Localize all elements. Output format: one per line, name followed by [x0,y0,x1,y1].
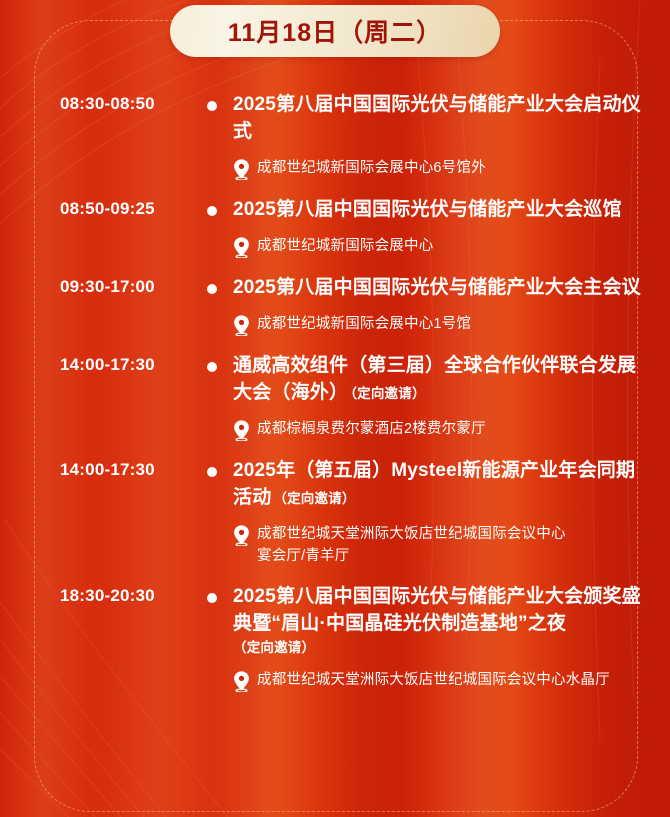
entry-note: （定向邀请） [273,491,355,506]
schedule-entry: 14:00-17:30通威高效组件（第三届）全球合作伙伴联合发展大会（海外）（定… [0,353,670,441]
entry-bullet-column [191,353,233,372]
entry-bullet-column [191,584,233,603]
schedule-entry: 09:30-17:002025第八届中国国际光伏与储能产业大会主会议成都世纪城新… [0,275,670,336]
location-line: 成都世纪城新国际会展中心 [257,236,433,258]
schedule-entry: 18:30-20:302025第八届中国国际光伏与储能产业大会颁奖盛典暨“眉山·… [0,584,670,692]
entry-bullet-column [191,275,233,294]
map-pin-icon [233,525,250,546]
entry-title-block: 2025第八届中国国际光伏与储能产业大会主会议 [233,275,648,302]
entry-detail-column: 通威高效组件（第三届）全球合作伙伴联合发展大会（海外）（定向邀请）成都棕榈泉费尔… [233,353,648,441]
schedule-entry: 08:30-08:502025第八届中国国际光伏与储能产业大会启动仪式成都世纪城… [0,92,670,180]
entry-location-row: 成都棕榈泉费尔蒙酒店2楼费尔蒙厅 [233,419,648,441]
entry-detail-column: 2025第八届中国国际光伏与储能产业大会启动仪式成都世纪城新国际会展中心6号馆外 [233,92,648,180]
map-pin-icon [233,671,250,692]
entry-note: （定向邀请） [350,386,425,401]
schedule-entry: 08:50-09:252025第八届中国国际光伏与储能产业大会巡馆成都世纪城新国… [0,197,670,258]
entry-detail-column: 2025第八届中国国际光伏与储能产业大会主会议成都世纪城新国际会展中心1号馆 [233,275,648,336]
schedule-entry: 14:00-17:302025年（第五届）Mysteel新能源产业年会同期活动（… [0,458,670,567]
entry-time-column: 09:30-17:00 [60,275,191,297]
entry-location-row: 成都世纪城新国际会展中心 [233,236,648,258]
entry-time-column: 14:00-17:30 [60,458,191,480]
bullet-dot-icon [207,467,217,477]
entry-title-block: 2025第八届中国国际光伏与储能产业大会颁奖盛典暨“眉山·中国晶硅光伏制造基地”… [233,584,648,658]
entry-time-column: 08:30-08:50 [60,92,191,114]
entry-bullet-column [191,458,233,477]
map-pin-icon [233,315,250,336]
entry-location: 成都世纪城新国际会展中心6号馆外 [257,158,486,180]
location-line: 成都世纪城天堂洲际大饭店世纪城国际会议中心 [257,524,566,546]
entry-title-block: 2025年（第五届）Mysteel新能源产业年会同期活动（定向邀请） [233,458,648,512]
bullet-dot-icon [207,362,217,372]
entry-title: 2025第八届中国国际光伏与储能产业大会主会议 [233,277,641,298]
agenda-poster: 11月18日（周二） 08:30-08:502025第八届中国国际光伏与储能产业… [0,0,670,817]
entry-detail-column: 2025年（第五届）Mysteel新能源产业年会同期活动（定向邀请）成都世纪城天… [233,458,648,567]
entry-location: 成都世纪城新国际会展中心1号馆 [257,314,471,336]
entry-title-block: 2025第八届中国国际光伏与储能产业大会启动仪式 [233,92,648,146]
entry-title: 2025第八届中国国际光伏与储能产业大会巡馆 [233,199,622,220]
entry-time: 08:50-09:25 [60,199,155,218]
entry-title-block: 通威高效组件（第三届）全球合作伙伴联合发展大会（海外）（定向邀请） [233,353,648,407]
entry-location-row: 成都世纪城天堂洲际大饭店世纪城国际会议中心宴会厅/青羊厅 [233,524,648,568]
entry-time-column: 18:30-20:30 [60,584,191,606]
entry-location: 成都世纪城天堂洲际大饭店世纪城国际会议中心宴会厅/青羊厅 [257,524,566,568]
entry-time-column: 08:50-09:25 [60,197,191,219]
entry-time: 14:00-17:30 [60,460,155,479]
entry-time-column: 14:00-17:30 [60,353,191,375]
map-pin-icon [233,420,250,441]
location-line: 成都世纪城新国际会展中心1号馆 [257,314,471,336]
map-pin-icon [233,237,250,258]
bullet-dot-icon [207,206,217,216]
entry-title: 通威高效组件（第三届）全球合作伙伴联合发展大会（海外） [233,355,636,403]
date-badge: 11月18日（周二） [170,5,500,57]
entry-time: 18:30-20:30 [60,586,155,605]
entry-bullet-column [191,92,233,111]
location-line: 宴会厅/青羊厅 [257,546,566,568]
entry-location-row: 成都世纪城天堂洲际大饭店世纪城国际会议中心水晶厅 [233,670,648,692]
bullet-dot-icon [207,593,217,603]
entry-time: 08:30-08:50 [60,94,155,113]
entry-detail-column: 2025第八届中国国际光伏与储能产业大会巡馆成都世纪城新国际会展中心 [233,197,648,258]
entry-time: 09:30-17:00 [60,277,155,296]
location-line: 成都棕榈泉费尔蒙酒店2楼费尔蒙厅 [257,419,486,441]
entry-title: 2025第八届中国国际光伏与储能产业大会启动仪式 [233,94,641,142]
entry-location-row: 成都世纪城新国际会展中心1号馆 [233,314,648,336]
entry-time: 14:00-17:30 [60,355,155,374]
bullet-dot-icon [207,101,217,111]
location-line: 成都世纪城新国际会展中心6号馆外 [257,158,486,180]
map-pin-icon [233,159,250,180]
entry-title-block: 2025第八届中国国际光伏与储能产业大会巡馆 [233,197,648,224]
entry-location: 成都世纪城天堂洲际大饭店世纪城国际会议中心水晶厅 [257,670,610,692]
entry-title: 2025第八届中国国际光伏与储能产业大会颁奖盛典暨“眉山·中国晶硅光伏制造基地”… [233,586,641,634]
schedule-list: 08:30-08:502025第八届中国国际光伏与储能产业大会启动仪式成都世纪城… [0,92,670,709]
location-line: 成都世纪城天堂洲际大饭店世纪城国际会议中心水晶厅 [257,670,610,692]
entry-bullet-column [191,197,233,216]
entry-note: （定向邀请） [233,638,648,658]
entry-location-row: 成都世纪城新国际会展中心6号馆外 [233,158,648,180]
entry-location: 成都棕榈泉费尔蒙酒店2楼费尔蒙厅 [257,419,486,441]
date-badge-label: 11月18日（周二） [228,13,442,49]
entry-detail-column: 2025第八届中国国际光伏与储能产业大会颁奖盛典暨“眉山·中国晶硅光伏制造基地”… [233,584,648,692]
bullet-dot-icon [207,284,217,294]
entry-location: 成都世纪城新国际会展中心 [257,236,433,258]
